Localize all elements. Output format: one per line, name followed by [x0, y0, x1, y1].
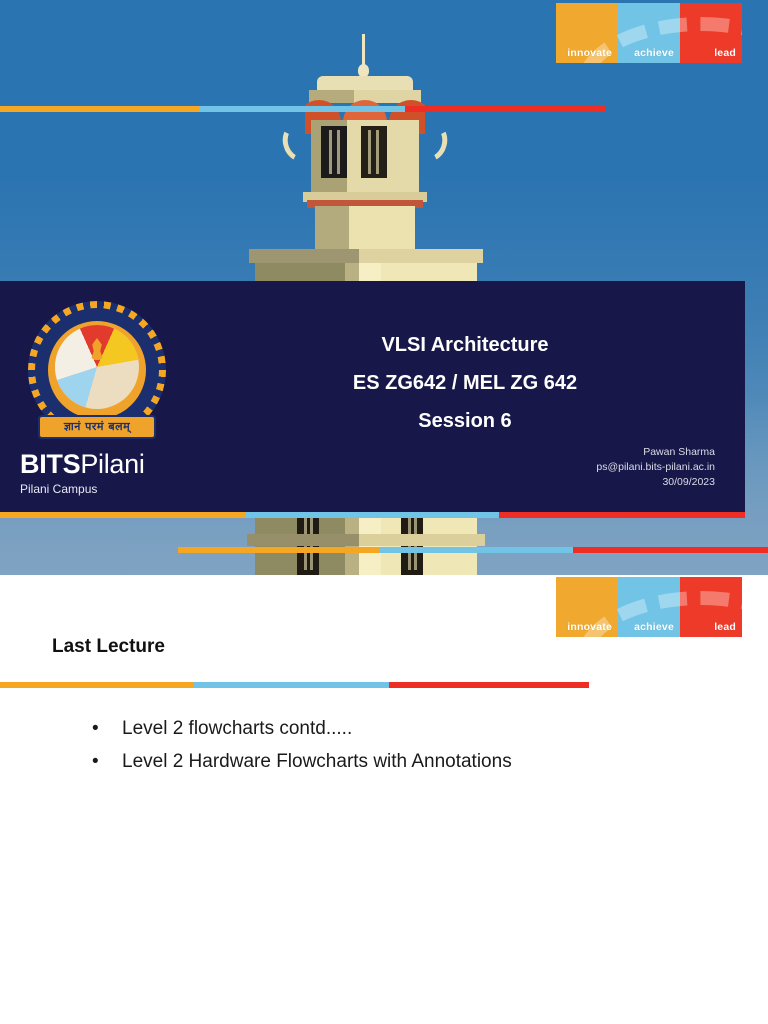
tagline-logo-body: innovate achieve lead: [556, 577, 742, 637]
author-name: Pawan Sharma: [415, 445, 715, 460]
emblem-wedge-yellow: [55, 325, 139, 409]
tagline-label-lead: lead: [714, 621, 736, 633]
cupola-window-left: [321, 126, 347, 178]
tagline-logo-top: innovate achieve lead: [556, 3, 742, 63]
tower-spire: [362, 34, 365, 68]
wordmark-pilani: Pilani: [80, 449, 144, 479]
tower-neck-shadow: [315, 206, 349, 254]
stripe-segment-blue: [194, 682, 388, 688]
stripe-segment-blue: [246, 512, 499, 518]
stripe-segment-red: [389, 682, 589, 688]
banner-author-block: Pawan Sharma ps@pilani.bits-pilani.ac.in…: [415, 445, 715, 490]
wordmark-line: BITSPilani: [20, 449, 145, 480]
banner-title-line-1: VLSI Architecture: [230, 326, 700, 364]
stripe-segment-blue: [379, 547, 574, 553]
section-heading: Last Lecture: [52, 636, 165, 658]
tagline-label-achieve: achieve: [634, 621, 674, 633]
list-item: Level 2 Hardware Flowcharts with Annotat…: [88, 745, 728, 778]
bits-pilani-emblem: BIRLA INSTITUTE OF TECHNOLOGY & SCIENCE,…: [22, 295, 172, 445]
tagline-cell-lead: lead: [680, 577, 742, 637]
tower-cornice-shadow: [249, 249, 359, 263]
stripe-segment-red: [499, 512, 745, 518]
author-email: ps@pilani.bits-pilani.ac.in: [415, 460, 715, 475]
emblem-motto-text: ज्ञानं परमं बलम्: [40, 417, 154, 437]
wordmark-campus: Pilani Campus: [20, 482, 145, 496]
bits-pilani-wordmark: BITSPilani Pilani Campus: [20, 449, 145, 496]
stripe-segment-blue: [200, 106, 406, 112]
accent-stripe-top: [0, 106, 605, 112]
tagline-cell-innovate: innovate: [556, 3, 618, 63]
stripe-segment-orange: [0, 512, 246, 518]
emblem-motto-scroll: ज्ञानं परमं बलम्: [38, 415, 156, 439]
stripe-segment-orange: [0, 682, 194, 688]
stripe-segment-red: [405, 106, 605, 112]
accent-stripe-body: [0, 682, 589, 688]
list-item: Level 2 flowcharts contd.....: [88, 712, 728, 745]
banner-title-block: VLSI Architecture ES ZG642 / MEL ZG 642 …: [230, 326, 700, 440]
stripe-segment-orange: [178, 547, 379, 553]
banner-title-line-2: ES ZG642 / MEL ZG 642: [230, 364, 700, 402]
bullet-list: Level 2 flowcharts contd..... Level 2 Ha…: [88, 712, 728, 778]
slide: innovate achieve lead BIRLA INSTITUTE OF…: [0, 0, 768, 1024]
tagline-label-achieve: achieve: [634, 47, 674, 59]
accent-stripe-lower: [178, 547, 768, 553]
banner-title-line-3: Session 6: [230, 402, 700, 440]
tagline-cell-lead: lead: [680, 3, 742, 63]
tagline-cell-achieve: achieve: [618, 577, 680, 637]
stripe-segment-red: [573, 547, 768, 553]
title-banner: BIRLA INSTITUTE OF TECHNOLOGY & SCIENCE,…: [0, 281, 745, 512]
tagline-cell-achieve: achieve: [618, 3, 680, 63]
session-date: 30/09/2023: [415, 475, 715, 490]
accent-stripe-banner: [0, 512, 745, 518]
tagline-cell-innovate: innovate: [556, 577, 618, 637]
tagline-label-lead: lead: [714, 47, 736, 59]
emblem-crest: [55, 325, 139, 409]
tower-base-band-shadow: [247, 534, 359, 546]
stripe-segment-orange: [0, 106, 200, 112]
cupola-window-right: [361, 126, 387, 178]
tagline-label-innovate: innovate: [567, 47, 612, 59]
wordmark-bits: BITS: [20, 449, 80, 479]
tagline-label-innovate: innovate: [567, 621, 612, 633]
